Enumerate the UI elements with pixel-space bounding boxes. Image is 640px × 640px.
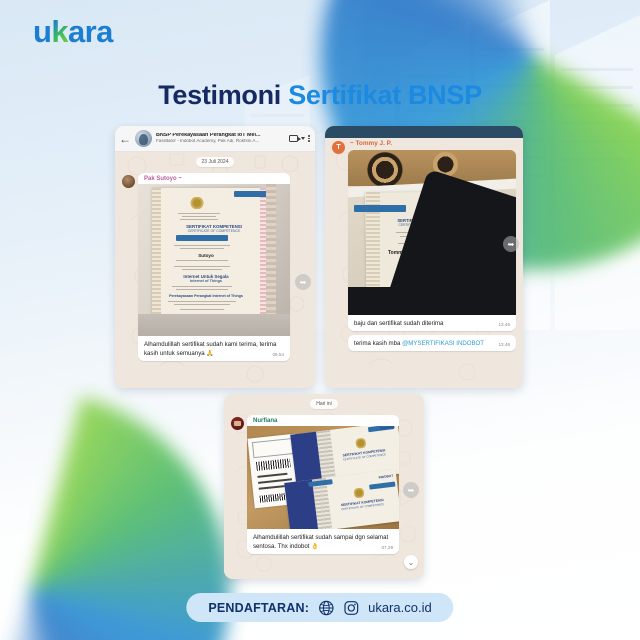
message-row: Pak Sutoyo ~ ★ SERTIFIKAT KOMPETENSI CER… bbox=[122, 173, 308, 361]
forward-arrow-icon[interactable]: ➥ bbox=[403, 482, 419, 498]
date-chip: 23 Juli 2024 bbox=[196, 157, 235, 167]
message-body: baju dan sertifikat sudah diterima bbox=[354, 320, 443, 327]
testimonial-card-3: Hari ini Nurfiana bbox=[224, 394, 424, 579]
message-row: Nurfiana bbox=[231, 415, 417, 554]
instagram-icon[interactable] bbox=[343, 600, 359, 616]
registration-footer: PENDAFTARAN: ukara.co.id bbox=[186, 593, 453, 622]
logo-text-u: u bbox=[33, 14, 51, 50]
message-timestamp: 07.29 bbox=[382, 545, 394, 552]
footer-url[interactable]: ukara.co.id bbox=[368, 600, 432, 615]
attached-photo[interactable]: ★ SERTIFIKAT KOMPETENSI CERTIFICATE OF C… bbox=[138, 184, 290, 336]
page-title: Testimoni Sertifikat BNSP bbox=[0, 80, 640, 111]
message-text: terima kasih mba @MYSERTIFIKASI INDOBOT … bbox=[348, 335, 516, 351]
globe-icon[interactable] bbox=[318, 600, 334, 616]
back-arrow-icon[interactable]: ← bbox=[119, 133, 131, 145]
chat-body-2: T ~ Tommy J. P. bbox=[325, 126, 523, 388]
card-top-strip bbox=[325, 126, 523, 138]
chevron-down-icon[interactable] bbox=[301, 137, 305, 140]
avatar bbox=[231, 417, 244, 430]
avatar-initial: T bbox=[336, 144, 340, 151]
page-title-blue: Sertifikat BNSP bbox=[288, 80, 482, 110]
more-options-icon[interactable] bbox=[308, 135, 310, 142]
message-timestamp: 09.54 bbox=[273, 352, 285, 359]
message-text: Alhamdulillah sertifikat sudah sampai dg… bbox=[247, 529, 399, 554]
message-timestamp: 13.46 bbox=[499, 322, 511, 329]
sender-name: Nurfiana bbox=[247, 415, 399, 426]
message-row: T ~ Tommy J. P. bbox=[332, 139, 516, 351]
page-title-dark: Testimoni bbox=[158, 80, 288, 110]
message-text: Alhamdulillah sertifikat sudah kami teri… bbox=[138, 336, 290, 361]
chat-subtitle: Fasilitator - Indobot Academy, Pak Adi, … bbox=[156, 139, 285, 144]
attached-photo[interactable]: SERTIFIKAT KOMPETENSI CERTIFICATE OF COM… bbox=[348, 150, 516, 315]
chat-header: ← BNSP Perekayasaan Perangkat IoT Mei...… bbox=[115, 126, 315, 152]
footer-label: PENDAFTARAN: bbox=[208, 601, 309, 615]
message-bubble[interactable]: Nurfiana bbox=[247, 415, 399, 554]
sender-name: Pak Sutoyo ~ bbox=[138, 173, 290, 184]
message-text: baju dan sertifikat sudah diterima 13.46 bbox=[348, 315, 516, 331]
testimonial-card-1: ← BNSP Perekayasaan Perangkat IoT Mei...… bbox=[115, 126, 315, 388]
forward-arrow-icon[interactable]: ➥ bbox=[295, 274, 311, 290]
date-chip: Hari ini bbox=[310, 399, 338, 409]
chat-header-icons bbox=[289, 135, 310, 142]
message-timestamp: 13.46 bbox=[499, 342, 511, 349]
mention-link[interactable]: @MYSERTIFIKASI INDOBOT bbox=[402, 340, 484, 347]
message-bubble[interactable]: Pak Sutoyo ~ ★ SERTIFIKAT KOMPETENSI CER… bbox=[138, 173, 290, 361]
testimonial-card-2: T ~ Tommy J. P. bbox=[325, 126, 523, 388]
message-body: Alhamdulillah sertifikat sudah sampai dg… bbox=[253, 534, 388, 550]
ukara-logo: ukara bbox=[33, 14, 113, 50]
avatar: T bbox=[332, 141, 345, 154]
message-stack: ~ Tommy J. P. SERTIFIKAT KOMPETENSI bbox=[348, 139, 516, 351]
video-call-icon[interactable] bbox=[289, 135, 298, 142]
chat-header-titles: BNSP Perekayasaan Perangkat IoT Mei... F… bbox=[156, 133, 285, 143]
logo-text-k: k bbox=[51, 14, 68, 50]
message-bubble[interactable]: terima kasih mba @MYSERTIFIKASI INDOBOT … bbox=[348, 335, 516, 351]
poster-canvas: ukara Testimoni Sertifikat BNSP bbox=[0, 0, 640, 640]
sender-name: ~ Tommy J. P. bbox=[350, 140, 516, 147]
chat-body-3: Hari ini Nurfiana bbox=[224, 394, 424, 579]
group-avatar[interactable] bbox=[135, 130, 152, 147]
attached-photo[interactable]: SERTIFIKAT KOMPETENSI CERTIFICATE OF COM… bbox=[247, 426, 399, 529]
avatar bbox=[122, 175, 135, 188]
message-body: terima kasih mba bbox=[354, 340, 402, 347]
forward-arrow-icon[interactable]: ➥ bbox=[503, 236, 519, 252]
message-bubble[interactable]: SERTIFIKAT KOMPETENSI CERTIFICATE OF COM… bbox=[348, 150, 516, 331]
message-body: Alhamdulillah sertifikat sudah kami teri… bbox=[144, 341, 276, 357]
logo-text-ara: ara bbox=[68, 14, 113, 50]
chat-body-1: 23 Juli 2024 Pak Sutoyo ~ ★ bbox=[115, 152, 315, 388]
scroll-down-icon[interactable]: ⌄ bbox=[404, 555, 418, 569]
